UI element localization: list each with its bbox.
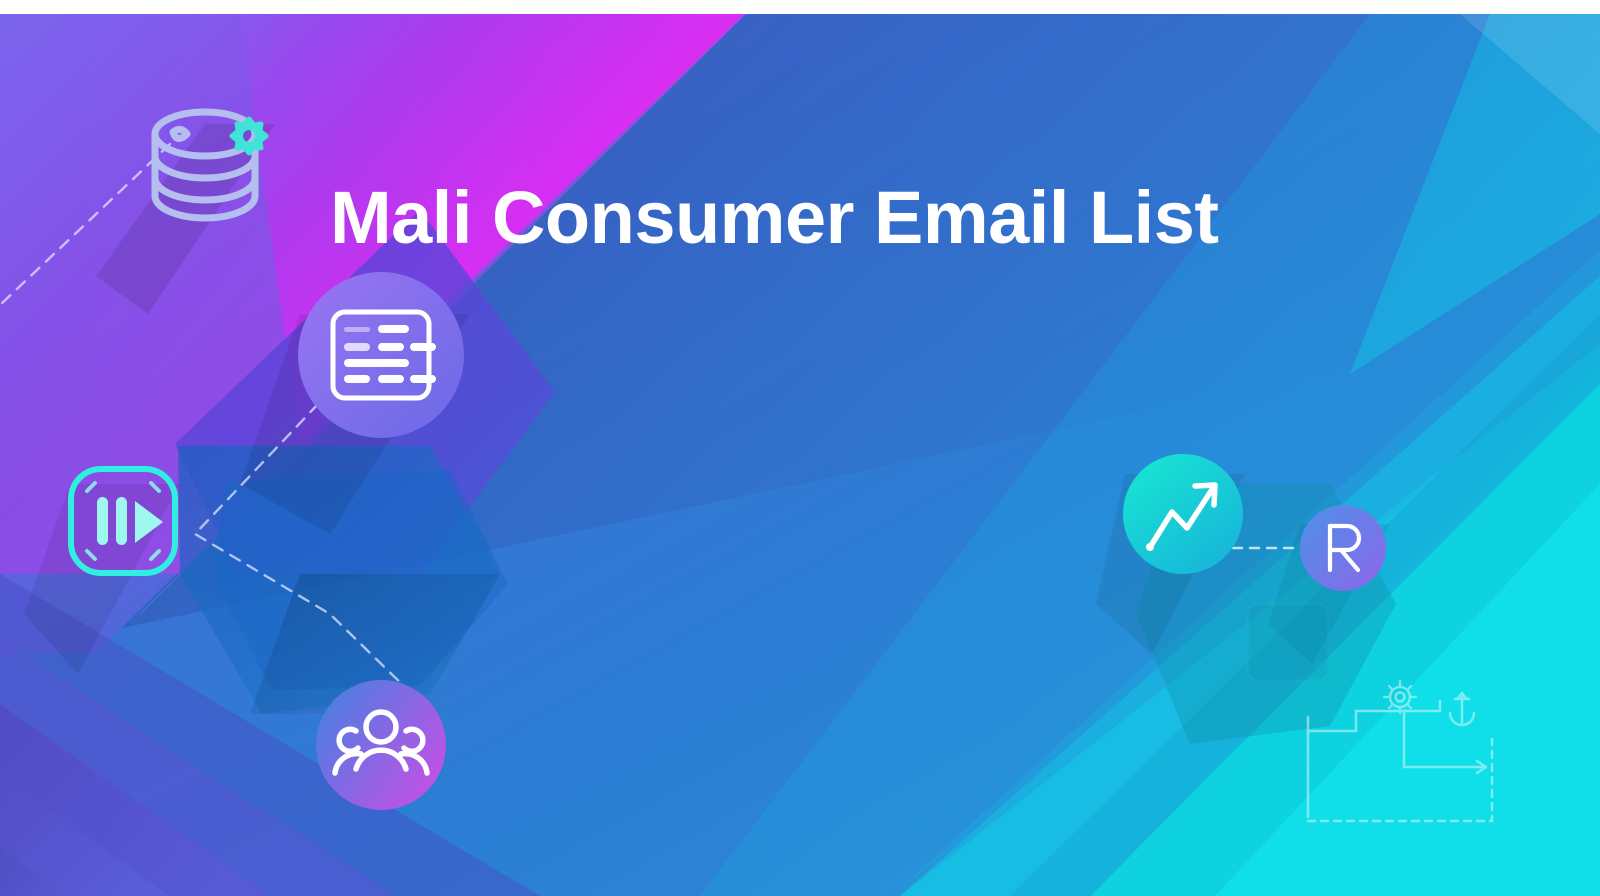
people-group-icon bbox=[316, 680, 446, 810]
letter-r-icon bbox=[1300, 505, 1386, 591]
watermark-card bbox=[1248, 604, 1328, 680]
data-table-icon bbox=[298, 272, 464, 438]
trending-up-icon bbox=[1123, 454, 1243, 574]
background-artwork bbox=[0, 14, 1600, 896]
hero-banner: Mali Consumer Email List bbox=[0, 0, 1600, 896]
